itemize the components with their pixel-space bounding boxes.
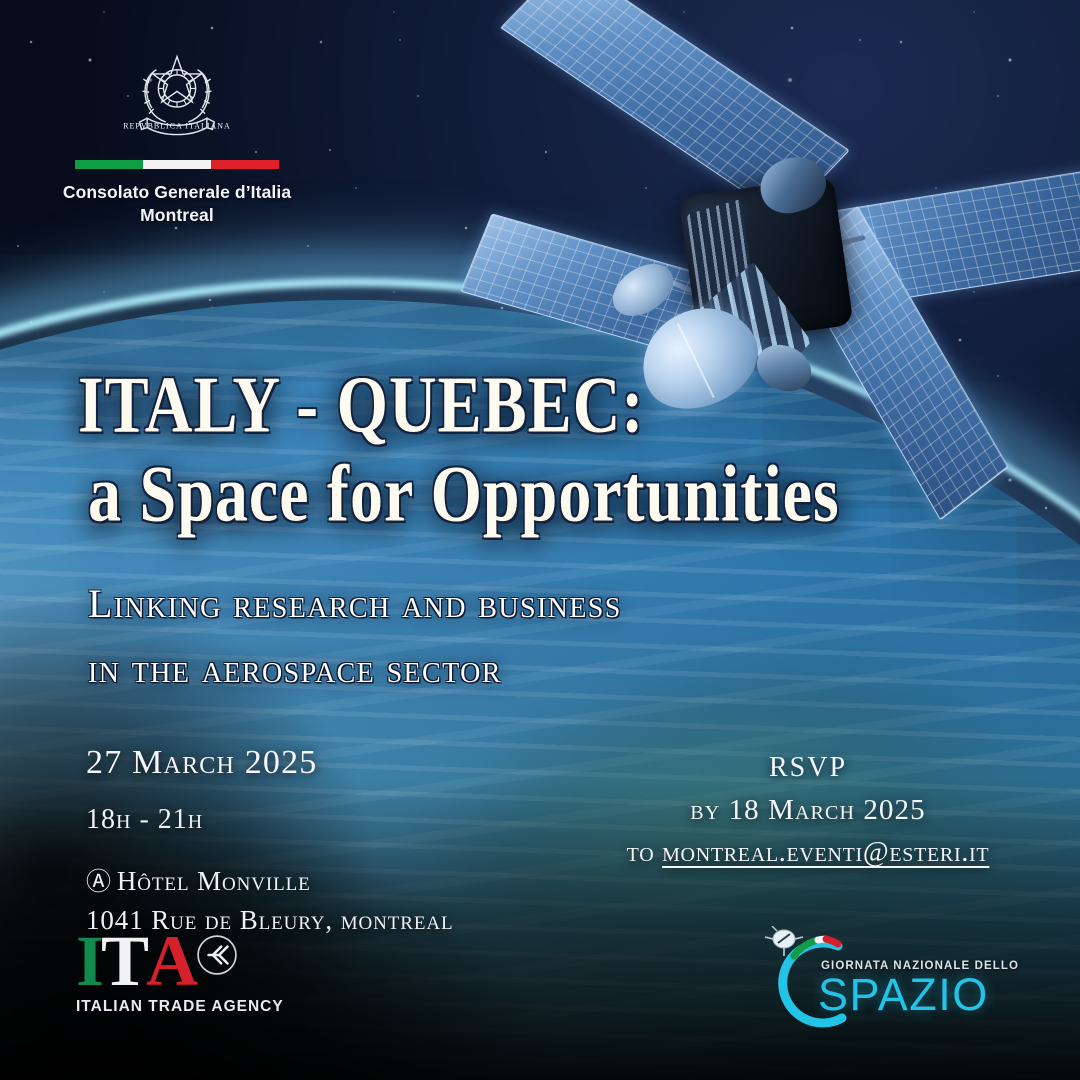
italian-republic-emblem: REPVBBLICA ITALIANA xyxy=(121,38,233,150)
rsvp-title: RSVP xyxy=(598,752,1018,784)
ita-chevron-circle-icon xyxy=(196,934,238,976)
ita-letter-i: I xyxy=(76,928,101,994)
poster-subtitle: Linking research and business in the aer… xyxy=(88,572,968,702)
ita-letter-t: T xyxy=(101,928,146,994)
rsvp-deadline: by 18 March 2025 xyxy=(598,794,1018,827)
rsvp-block: RSVP by 18 March 2025 to montreal.eventi… xyxy=(598,752,1018,869)
tricolor-white xyxy=(143,160,211,169)
spazio-wordmark: GIORNATA NAZIONALE DELLO SPAZIO xyxy=(818,960,1024,1016)
subtitle-line-1: Linking research and business xyxy=(88,572,968,637)
poster-title: ITALY - QUEBEC: a Space for Opportunitie… xyxy=(78,362,998,523)
event-details: 27 March 2025 18h - 21h ⒶHôtel Monville … xyxy=(86,744,556,939)
ita-letter-a: A xyxy=(146,928,195,994)
ita-lockup: I T A xyxy=(76,928,316,994)
consulate-city: Montreal xyxy=(62,204,292,227)
rsvp-contact-line: to montreal.eventi@esteri.it xyxy=(598,837,1018,869)
venue-name: Hôtel Monville xyxy=(117,866,311,896)
italian-trade-agency-logo: I T A ITALIAN TRADE AGENCY xyxy=(76,928,316,1016)
event-venue: ⒶHôtel Monville xyxy=(86,862,556,901)
consulate-name: Consolato Generale d’Italia xyxy=(62,181,292,204)
at-sign-icon: Ⓐ xyxy=(86,869,112,896)
giornata-nazionale-spazio-logo: GIORNATA NAZIONALE DELLO SPAZIO xyxy=(760,924,1022,1042)
title-line-2: a Space for Opportunities xyxy=(78,451,998,538)
tricolor-green xyxy=(75,160,143,169)
svg-text:REPVBBLICA ITALIANA: REPVBBLICA ITALIANA xyxy=(123,122,231,131)
event-date: 27 March 2025 xyxy=(86,744,556,782)
rsvp-to-label: to xyxy=(627,837,662,868)
italian-tricolor-bar xyxy=(75,160,280,169)
event-time: 18h - 21h xyxy=(86,804,556,836)
subtitle-line-2: in the aerospace sector xyxy=(88,637,968,702)
spazio-title: SPAZIO xyxy=(818,973,1024,1016)
tricolor-red xyxy=(211,160,279,169)
title-line-1: ITALY - QUEBEC: xyxy=(78,362,998,449)
ita-subtitle: ITALIAN TRADE AGENCY xyxy=(76,998,316,1016)
rsvp-email-link[interactable]: montreal.eventi@esteri.it xyxy=(662,837,989,868)
consulate-logo: REPVBBLICA ITALIANA Consolato Generale d… xyxy=(62,38,292,227)
event-poster: REPVBBLICA ITALIANA Consolato Generale d… xyxy=(0,0,1080,1080)
